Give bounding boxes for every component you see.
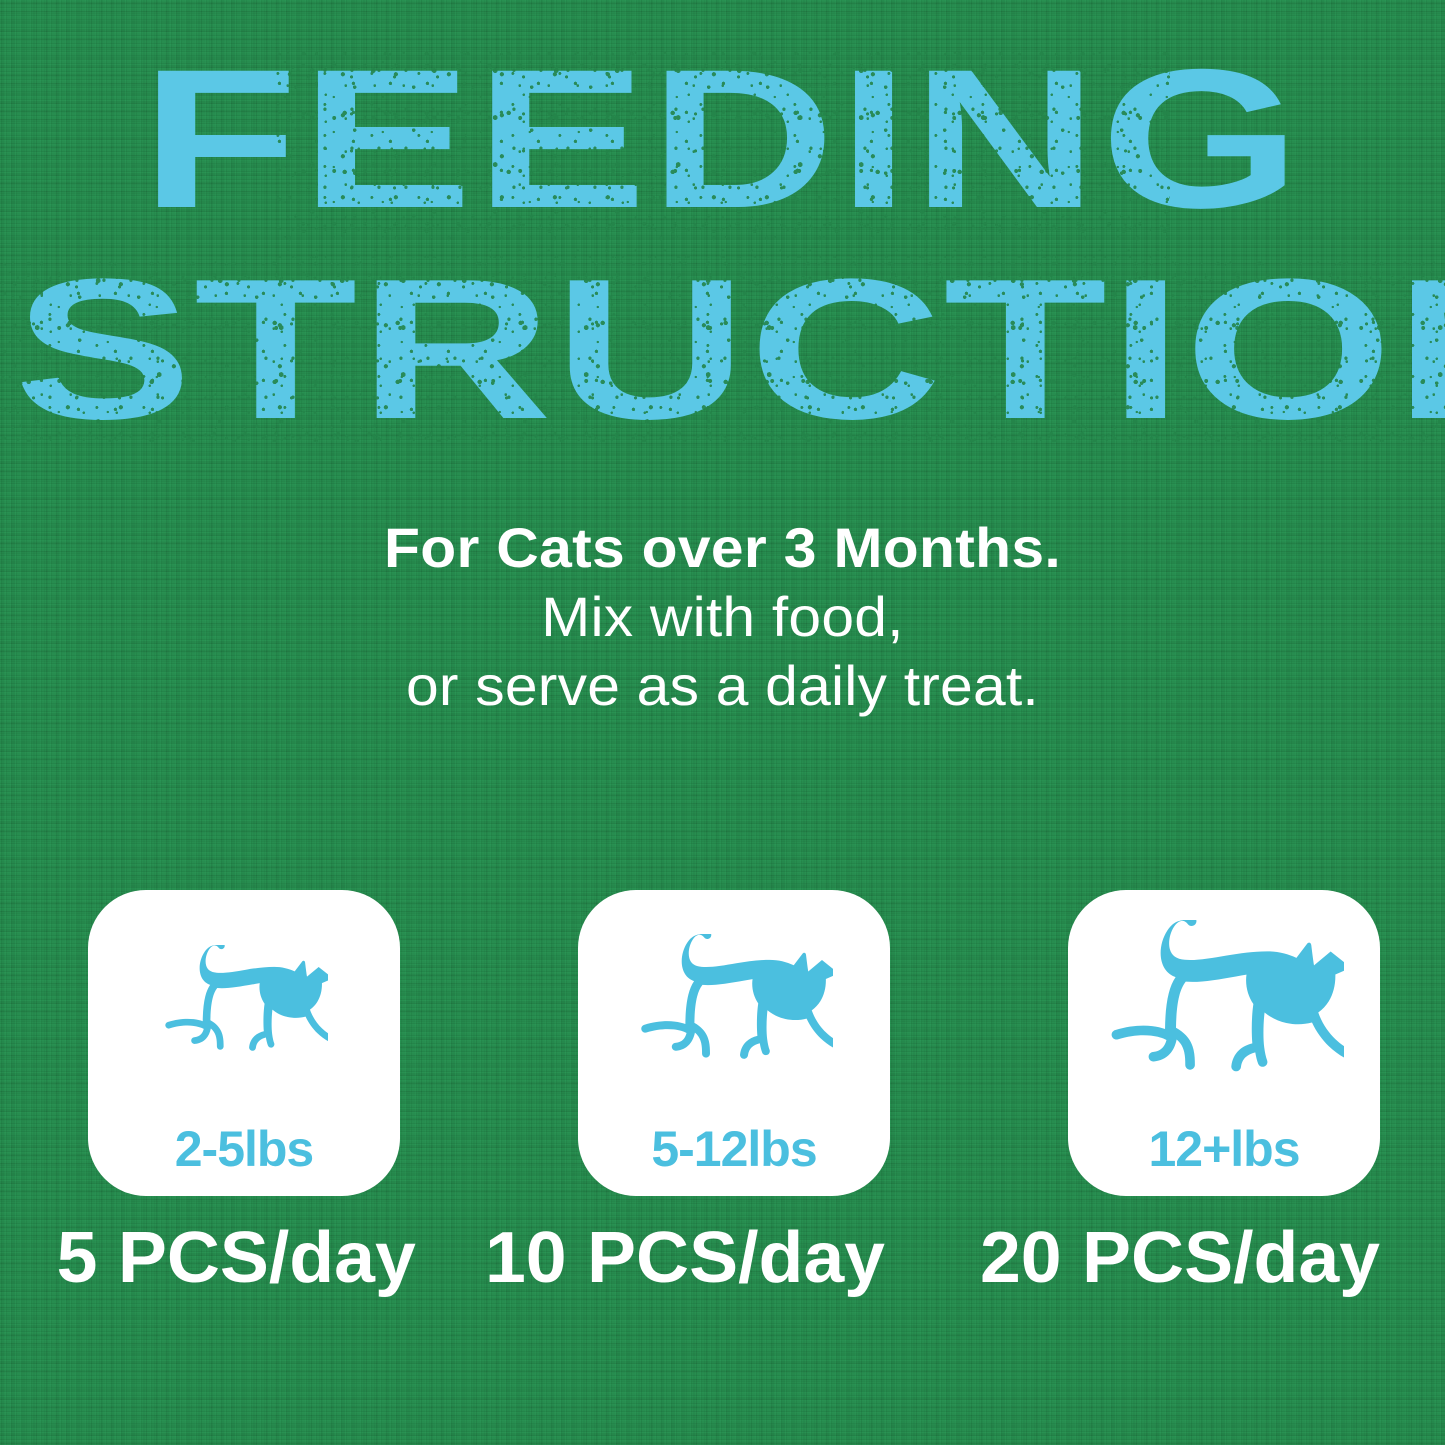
feeding-instructions-poster: FEEDING INSTRUCTIONS For Cats over 3 Mon… — [0, 0, 1445, 1445]
subtitle-block: For Cats over 3 Months. Mix with food, o… — [0, 518, 1445, 720]
title-line-1-wrap: FEEDING — [275, 48, 1169, 258]
title-line-feeding: FEEDING — [141, 48, 1303, 230]
cat-walking-icon — [160, 945, 328, 1061]
dose-label-medium: 10 PCS/day — [481, 1222, 889, 1294]
cat-walking-icon — [635, 934, 833, 1071]
subtitle-line-mix-with-food: Mix with food, — [0, 583, 1445, 651]
dose-row: 5 PCS/day 10 PCS/day 20 PCS/day — [60, 1222, 1390, 1294]
title-line-2-wrap: INSTRUCTIONS — [0, 258, 1445, 442]
title-line-instructions: INSTRUCTIONS — [0, 258, 1445, 442]
weight-card-large[interactable]: 12+lbs — [1068, 890, 1380, 1196]
weight-card-medium[interactable]: 5-12lbs — [578, 890, 890, 1196]
subtitle-line-age-requirement: For Cats over 3 Months. — [0, 518, 1445, 577]
weight-card-small[interactable]: 2-5lbs — [88, 890, 400, 1196]
cat-icon-holder-small — [88, 890, 400, 1115]
dose-label-small: 5 PCS/day — [57, 1222, 404, 1294]
cat-icon-holder-medium — [578, 890, 890, 1115]
subtitle-line-daily-treat: or serve as a daily treat. — [0, 652, 1445, 720]
cat-icon-holder-large — [1068, 890, 1380, 1115]
dose-label-large: 20 PCS/day — [966, 1222, 1394, 1294]
weight-cards-row: 2-5lbs 5-12lbs 12+lbs — [88, 890, 1380, 1196]
weight-label: 5-12lbs — [578, 1124, 890, 1174]
cat-walking-icon — [1104, 920, 1344, 1086]
weight-label: 2-5lbs — [88, 1124, 400, 1174]
weight-label: 12+lbs — [1068, 1124, 1380, 1174]
page-title: FEEDING INSTRUCTIONS — [0, 48, 1445, 442]
